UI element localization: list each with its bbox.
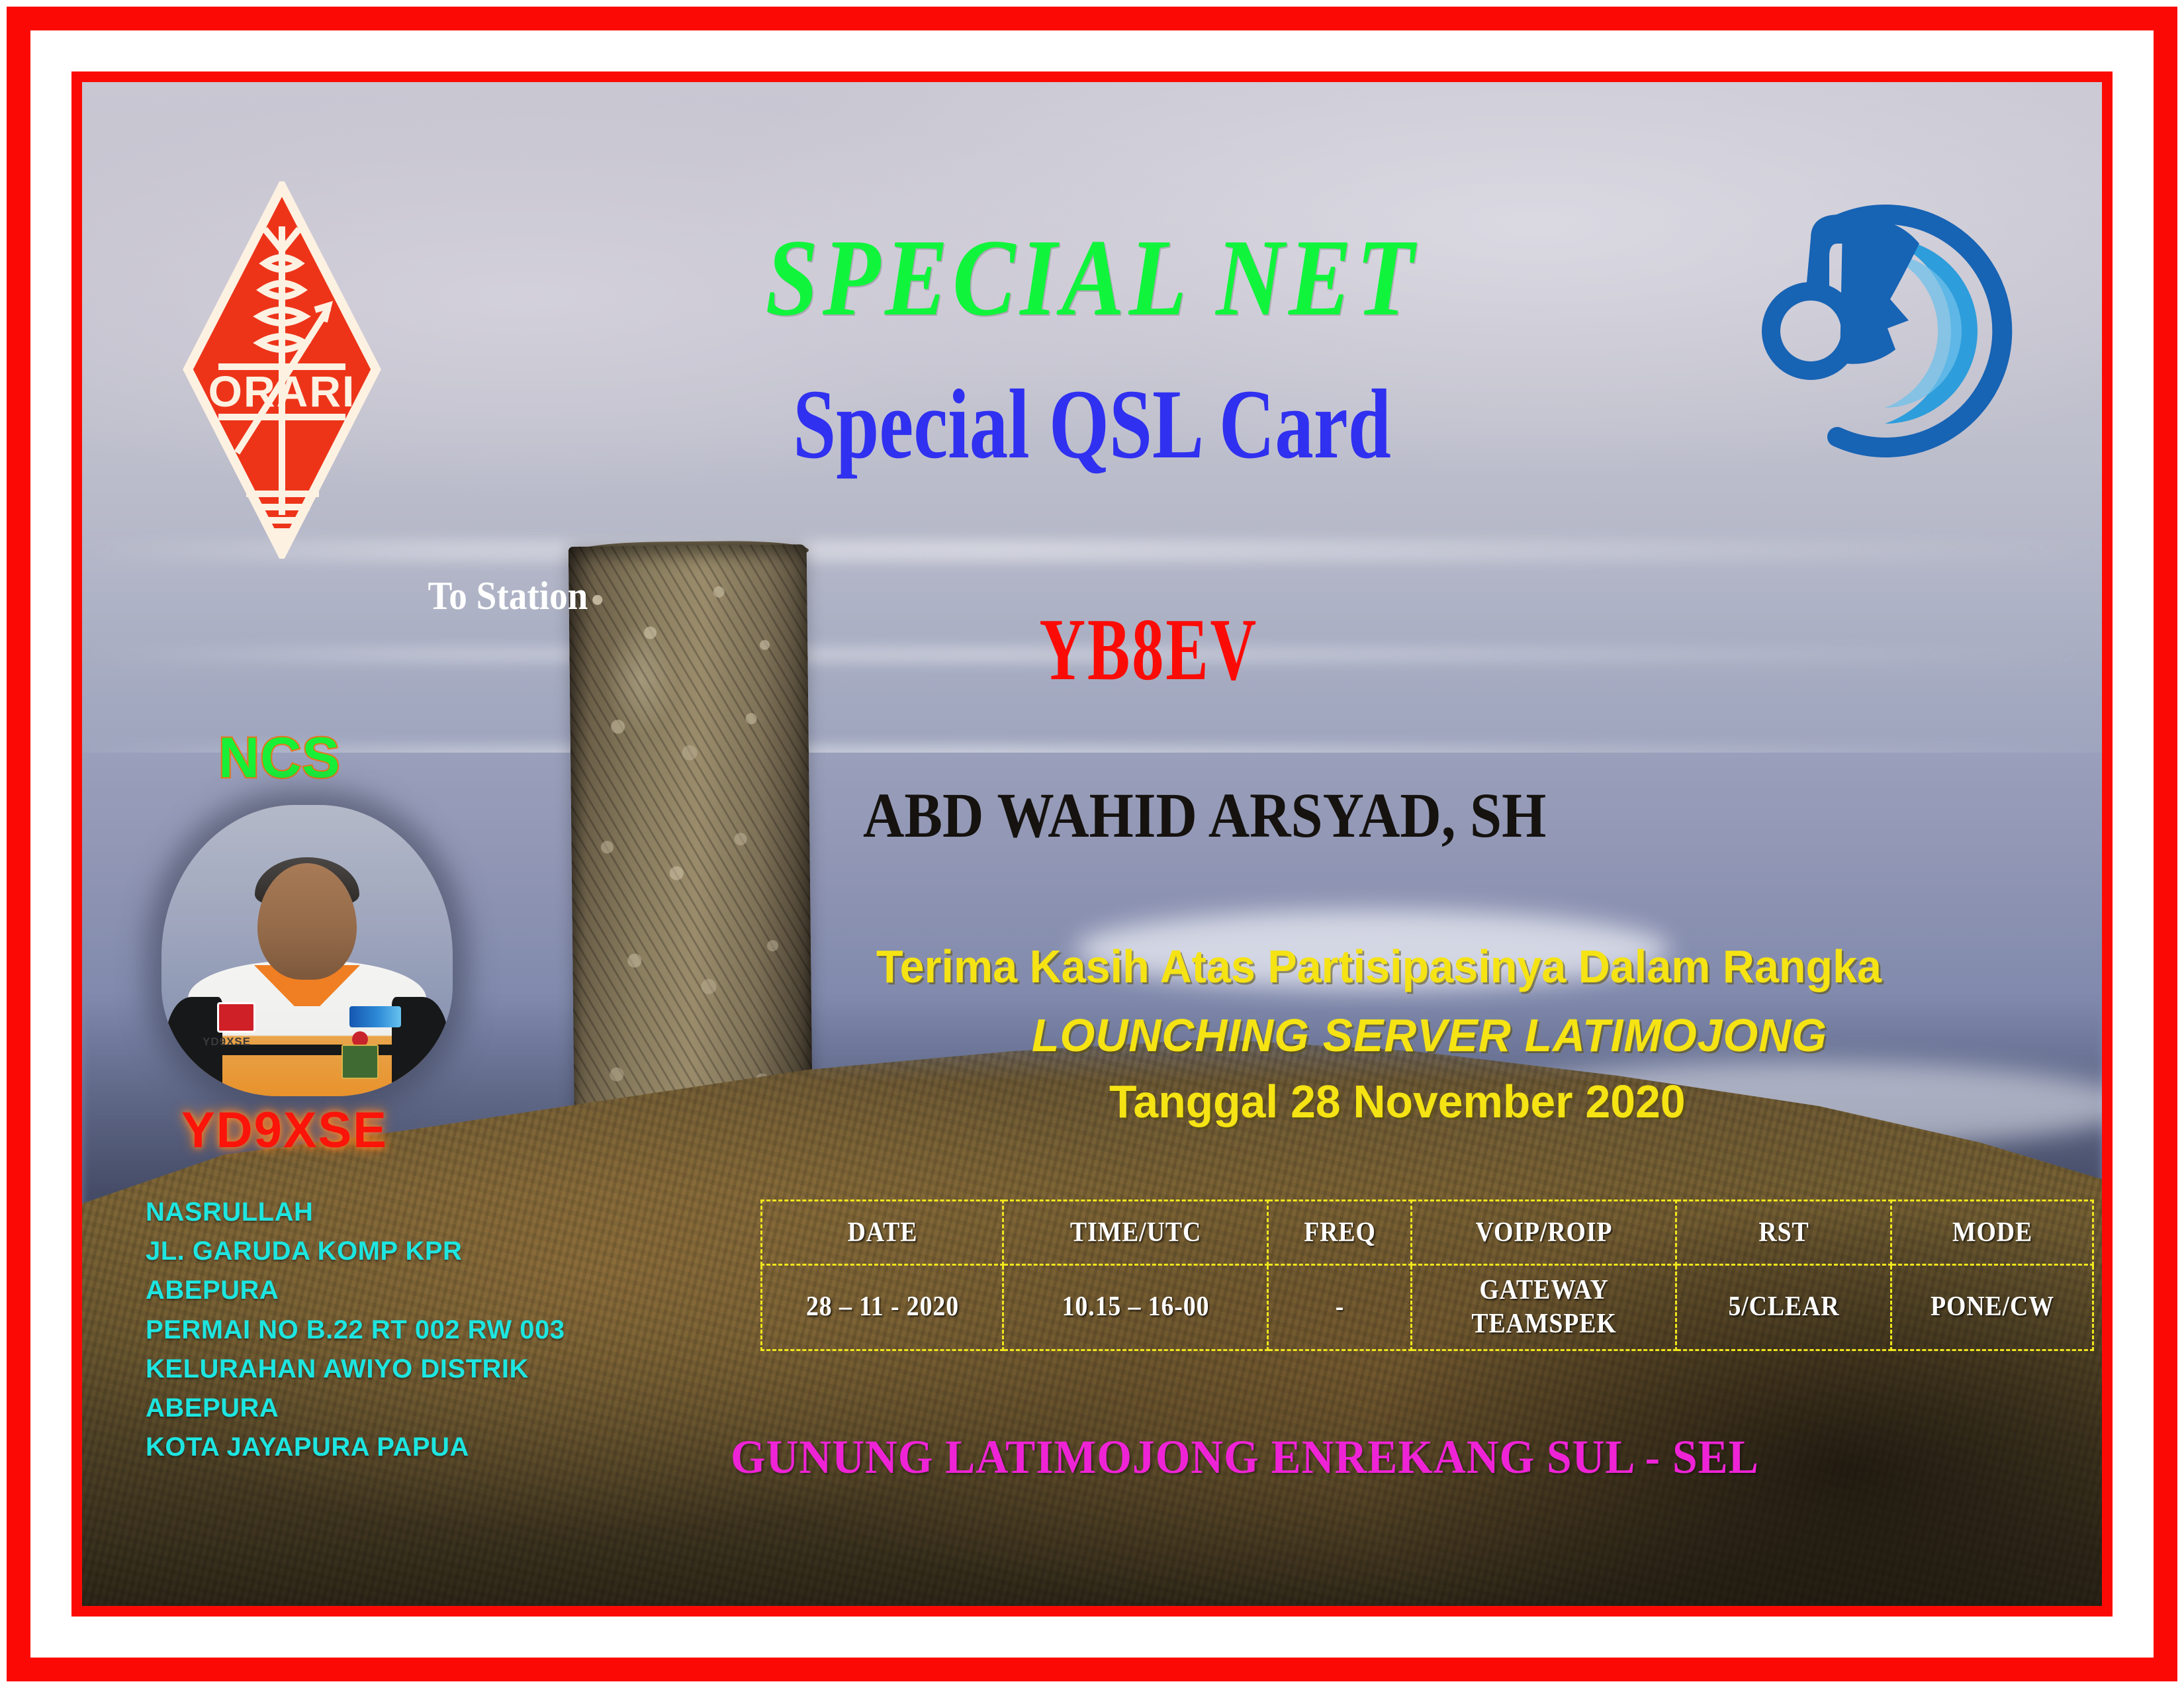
cell-voip-line2: TEAMSPEK — [1426, 1307, 1662, 1341]
event-line-2: LOUNCHING SERVER LATIMOJONG — [1032, 1009, 1827, 1062]
column-header-date: DATE — [774, 1201, 991, 1265]
ncs-label: NCS — [218, 726, 341, 791]
cell-freq: - — [1275, 1265, 1404, 1350]
ncs-operator-photo: YD9XSE — [161, 805, 453, 1096]
table-header-row: DATE TIME/UTC FREQ VOIP/ROIP RST MODE — [762, 1201, 2093, 1265]
column-header-rst: RST — [1687, 1201, 1881, 1265]
station-callsign: YB8EV — [863, 605, 1755, 694]
qsl-card: ORARI SPECIAL NET Special QSL Card To St… — [0, 0, 2184, 1688]
column-header-voip: VOIP/ROIP — [1425, 1201, 1663, 1265]
jacket-badge-right — [349, 1006, 401, 1027]
cell-voip: GATEWAY TEAMSPEK — [1425, 1265, 1663, 1350]
operator-name: ABD WAHID ARSYAD, SH — [863, 784, 1546, 847]
column-header-mode: MODE — [1901, 1201, 2083, 1265]
column-header-time: TIME/UTC — [1017, 1201, 1255, 1265]
table-row: 28 – 11 - 2020 10.15 – 16-00 - GATEWAY T… — [762, 1265, 2093, 1350]
ncs-callsign: YD9XSE — [181, 1102, 388, 1159]
address-line: PERMAI NO B.22 RT 002 RW 003 — [146, 1311, 565, 1350]
cell-date: 28 – 11 - 2020 — [774, 1265, 991, 1350]
cell-rst: 5/CLEAR — [1687, 1265, 1881, 1350]
address-line: NASRULLAH — [146, 1193, 565, 1232]
location-caption: GUNUNG LATIMOJONG ENREKANG SUL - SEL — [731, 1430, 1759, 1485]
cell-voip-line1: GATEWAY — [1426, 1274, 1662, 1307]
page-subtitle: Special QSL Card — [304, 375, 1880, 474]
qso-table: DATE TIME/UTC FREQ VOIP/ROIP RST MODE 28… — [760, 1199, 2094, 1351]
address-line: KOTA JAYAPURA PAPUA — [146, 1428, 565, 1467]
outer-red-frame: ORARI SPECIAL NET Special QSL Card To St… — [7, 7, 2177, 1681]
jacket-callsign-text: YD9XSE — [203, 1035, 251, 1049]
address-line: ABEPURA — [146, 1271, 565, 1310]
cloud-streak — [82, 539, 2102, 562]
jacket-badge-left — [217, 1002, 255, 1033]
cell-mode: PONE/CW — [1901, 1265, 2083, 1350]
page-title: SPECIAL NET — [224, 222, 1961, 332]
address-line: ABEPURA — [146, 1389, 565, 1428]
address-line: JL. GARUDA KOMP KPR — [146, 1232, 565, 1271]
event-line-1: Terima Kasih Atas Partisipasinya Dalam R… — [876, 940, 1882, 993]
address-line: KELURAHAN AWIYO DISTRIK — [146, 1350, 565, 1389]
inner-red-frame: ORARI SPECIAL NET Special QSL Card To St… — [71, 71, 2113, 1617]
cell-time: 10.15 – 16-00 — [1017, 1265, 1255, 1350]
station-address-block: NASRULLAH JL. GARUDA KOMP KPR ABEPURA PE… — [146, 1193, 565, 1467]
to-station-label: To Station — [428, 573, 588, 619]
id-card — [341, 1045, 379, 1079]
column-header-freq: FREQ — [1275, 1201, 1404, 1265]
event-line-3: Tanggal 28 November 2020 — [1109, 1075, 1685, 1128]
